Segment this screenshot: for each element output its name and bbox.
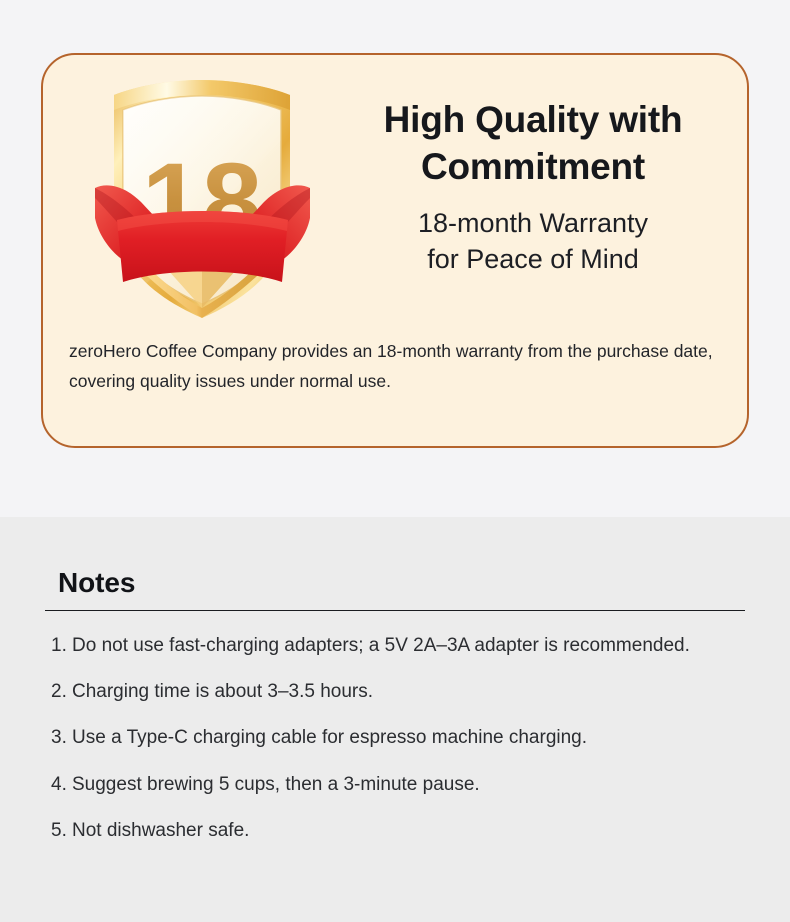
warranty-subheadline-line1: 18-month Warranty	[418, 208, 648, 238]
notes-section: Notes 1. Do not use fast-charging adapte…	[0, 517, 790, 922]
warranty-card: 18 High Quality	[41, 53, 749, 448]
notes-title: Notes	[45, 567, 745, 599]
warranty-shield-badge-icon: 18	[85, 70, 320, 320]
list-item: 4. Suggest brewing 5 cups, then a 3-minu…	[45, 772, 745, 798]
warranty-section: 18 High Quality	[0, 0, 790, 517]
warranty-headline: High Quality with Commitment	[328, 97, 738, 190]
warranty-description: zeroHero Coffee Company provides an 18-m…	[69, 336, 729, 396]
list-item: 2. Charging time is about 3–3.5 hours.	[45, 679, 745, 705]
list-item: 1. Do not use fast-charging adapters; a …	[45, 633, 745, 659]
warranty-headline-line1: High Quality with	[384, 99, 683, 140]
list-item-text: Charging time is about 3–3.5 hours.	[72, 681, 373, 702]
warranty-subheadline: 18-month Warranty for Peace of Mind	[328, 206, 738, 277]
list-item-text: Not dishwasher safe.	[72, 820, 249, 841]
list-item-number: 2.	[51, 679, 71, 705]
warranty-subheadline-line2: for Peace of Mind	[427, 244, 639, 274]
list-item-text: Suggest brewing 5 cups, then a 3-minute …	[72, 774, 480, 795]
list-item-number: 1.	[51, 633, 71, 659]
list-item-number: 3.	[51, 725, 71, 751]
warranty-headline-line2: Commitment	[421, 146, 645, 187]
list-item: 5. Not dishwasher safe.	[45, 818, 745, 844]
list-item-text: Use a Type-C charging cable for espresso…	[72, 727, 587, 748]
list-item-number: 4.	[51, 772, 71, 798]
notes-divider	[45, 610, 745, 611]
list-item-text: Do not use fast-charging adapters; a 5V …	[72, 635, 690, 656]
list-item: 3. Use a Type-C charging cable for espre…	[45, 725, 745, 751]
notes-inner: Notes 1. Do not use fast-charging adapte…	[45, 567, 745, 844]
list-item-number: 5.	[51, 818, 71, 844]
warranty-headline-block: High Quality with Commitment 18-month Wa…	[328, 97, 738, 277]
warranty-card-top-row: 18 High Quality	[43, 55, 747, 317]
notes-list: 1. Do not use fast-charging adapters; a …	[45, 633, 745, 844]
